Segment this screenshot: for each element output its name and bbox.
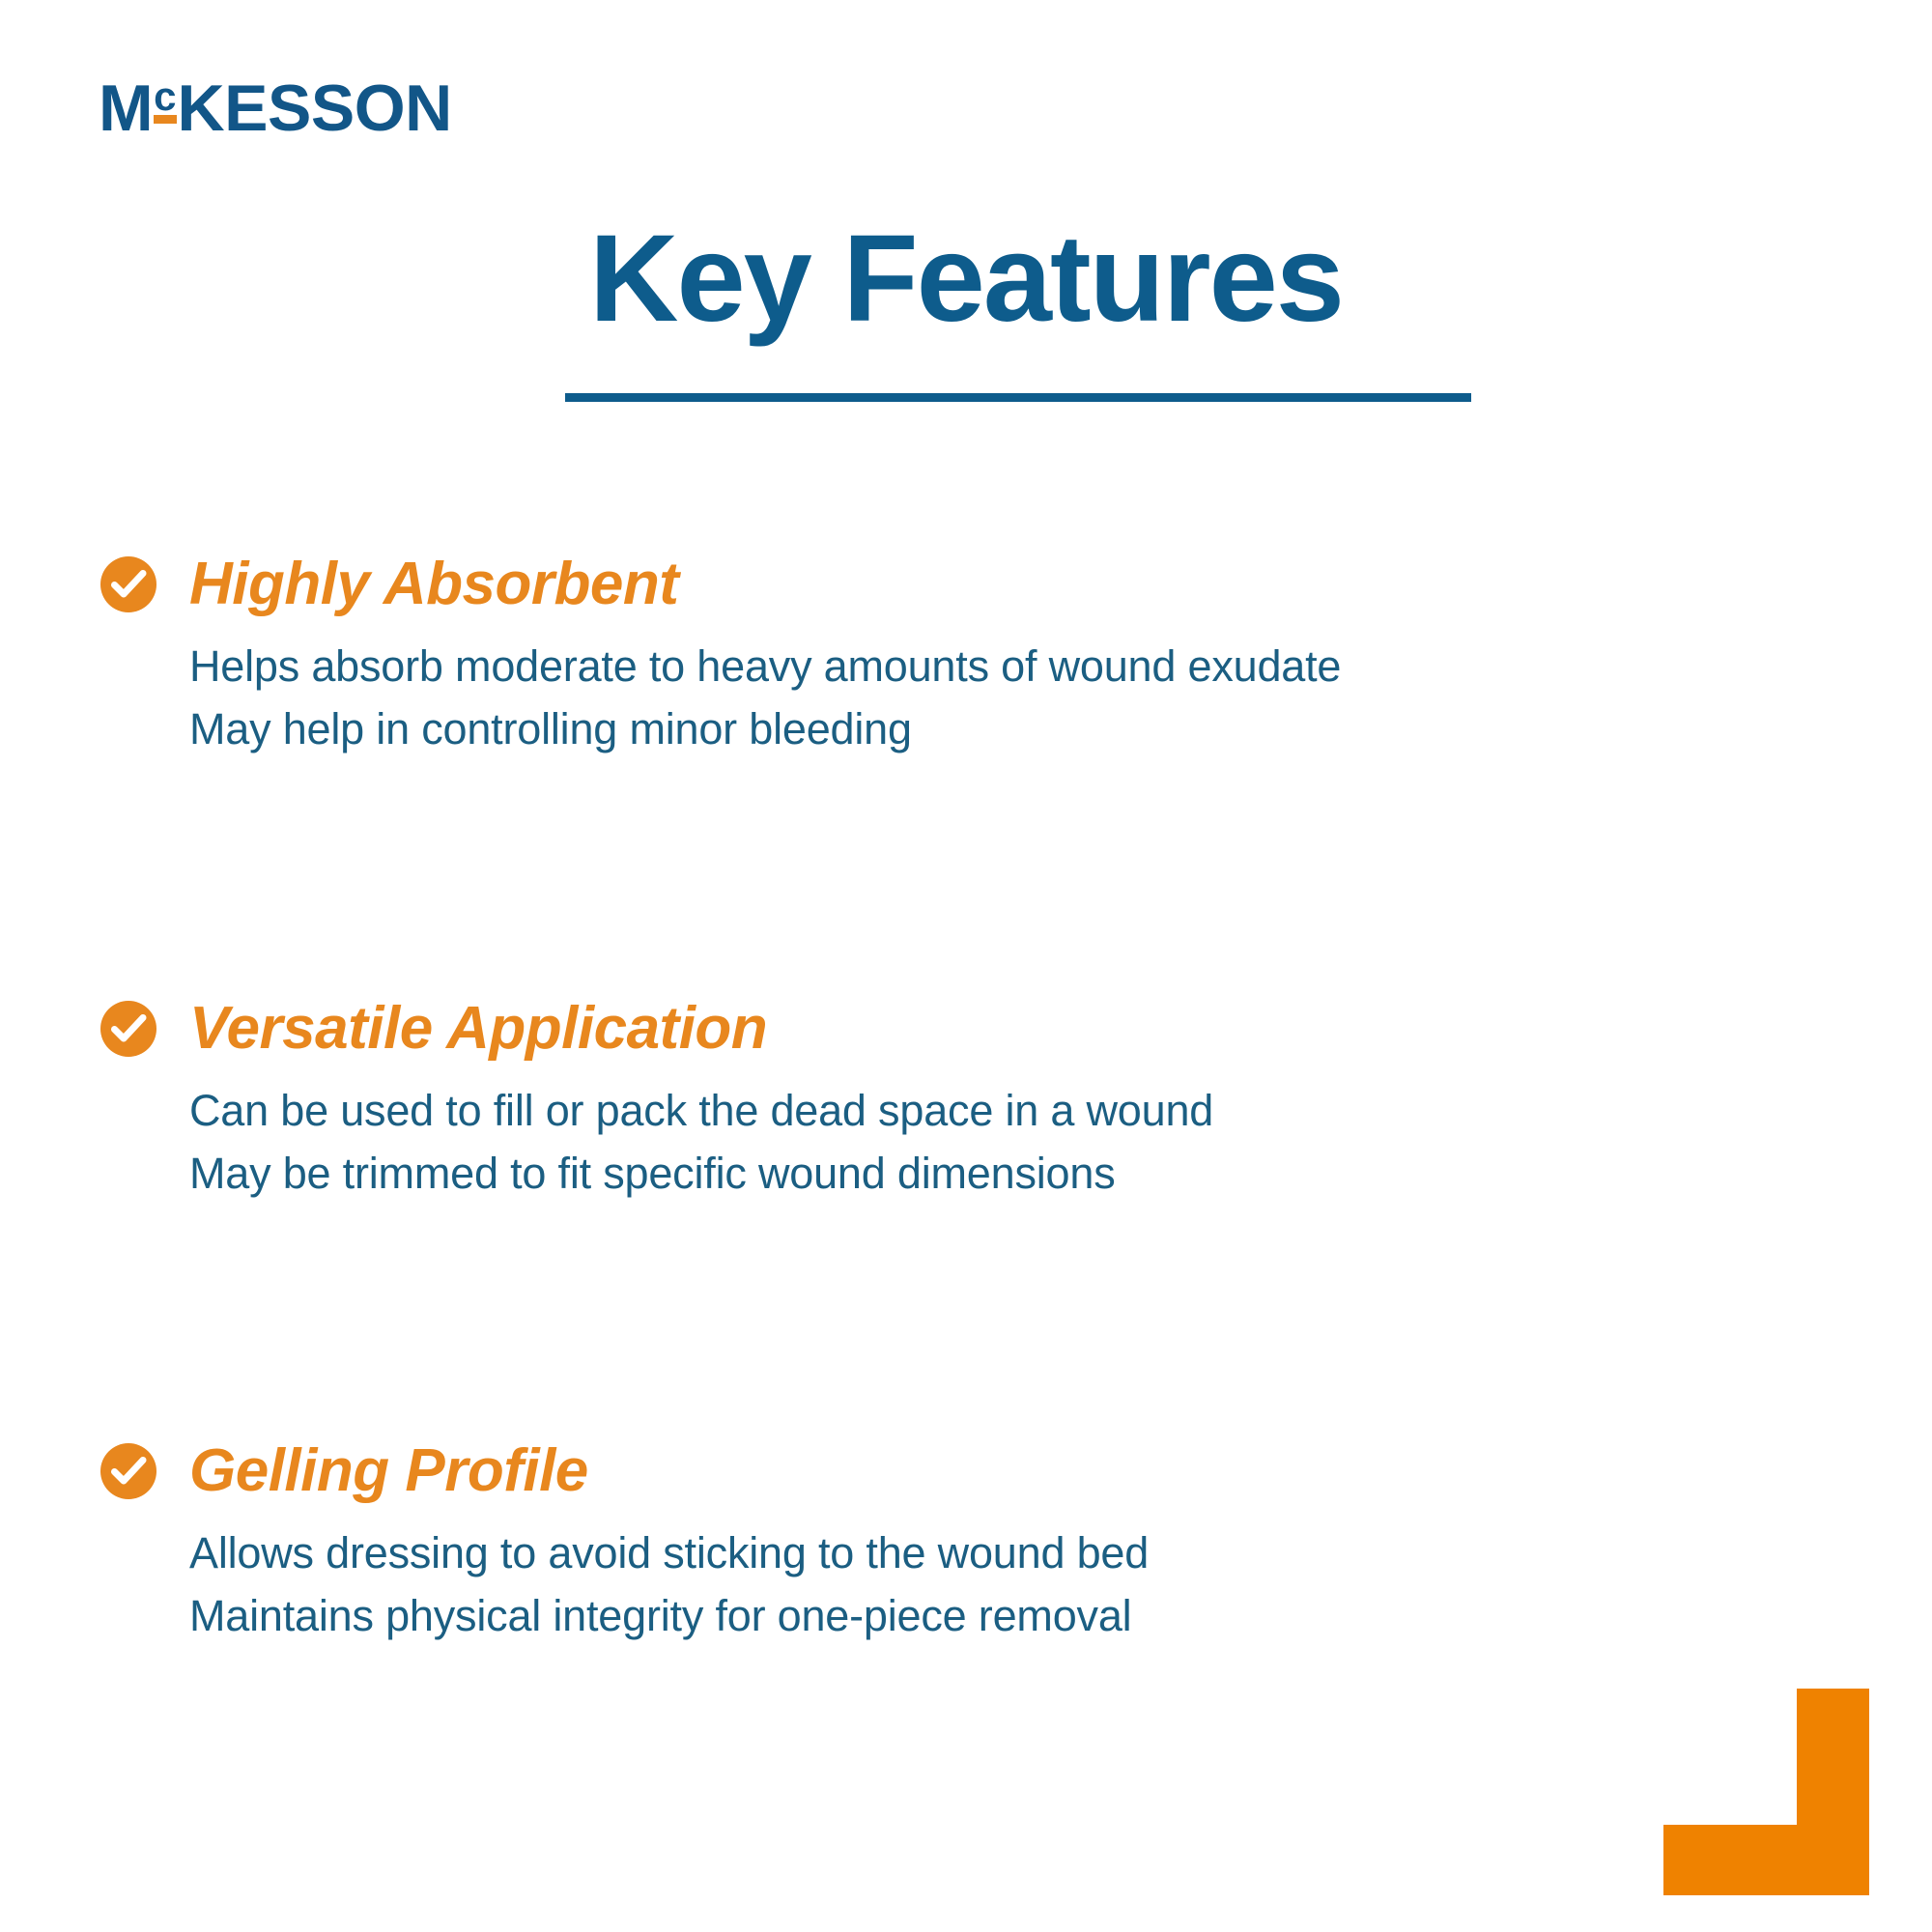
- feature-title: Gelling Profile: [189, 1439, 588, 1502]
- logo-superscript-c-group: c: [154, 75, 176, 116]
- feature-detail-lines: Allows dressing to avoid sticking to the…: [189, 1521, 1801, 1648]
- logo-letter-c: c: [154, 76, 176, 117]
- logo-letter-m: M: [99, 75, 153, 141]
- page-title-underline: [565, 393, 1471, 402]
- feature-title: Versatile Application: [189, 997, 767, 1060]
- feature-detail-line: May help in controlling minor bleeding: [189, 697, 1801, 760]
- corner-bracket-horizontal-bar: [1663, 1825, 1869, 1895]
- feature-item: Gelling Profile Allows dressing to avoid…: [100, 1439, 1801, 1648]
- feature-detail-line: Helps absorb moderate to heavy amounts o…: [189, 635, 1801, 697]
- check-circle-icon: [100, 556, 156, 612]
- slide-canvas: M c KESSON Key Features Highly Absorbent: [0, 0, 1932, 1932]
- feature-detail-lines: Helps absorb moderate to heavy amounts o…: [189, 635, 1801, 761]
- page-title: Key Features: [589, 214, 1343, 344]
- feature-title: Highly Absorbent: [189, 553, 678, 615]
- logo-c-underline-accent: [154, 115, 176, 124]
- feature-header: Highly Absorbent: [100, 553, 1801, 615]
- corner-bracket-decoration: [1663, 1689, 1869, 1895]
- feature-detail-line: Maintains physical integrity for one-pie…: [189, 1584, 1801, 1647]
- check-circle-icon: [100, 1001, 156, 1057]
- feature-item: Highly Absorbent Helps absorb moderate t…: [100, 553, 1801, 761]
- page-title-block: Key Features: [0, 214, 1932, 344]
- logo-text-kesson: KESSON: [178, 75, 452, 141]
- feature-header: Versatile Application: [100, 997, 1801, 1060]
- check-circle-icon: [100, 1443, 156, 1499]
- feature-header: Gelling Profile: [100, 1439, 1801, 1502]
- feature-detail-line: Can be used to fill or pack the dead spa…: [189, 1079, 1801, 1142]
- feature-detail-lines: Can be used to fill or pack the dead spa…: [189, 1079, 1801, 1206]
- mckesson-logo: M c KESSON: [99, 75, 452, 141]
- feature-detail-line: May be trimmed to fit specific wound dim…: [189, 1142, 1801, 1205]
- feature-detail-line: Allows dressing to avoid sticking to the…: [189, 1521, 1801, 1584]
- feature-item: Versatile Application Can be used to fil…: [100, 997, 1801, 1206]
